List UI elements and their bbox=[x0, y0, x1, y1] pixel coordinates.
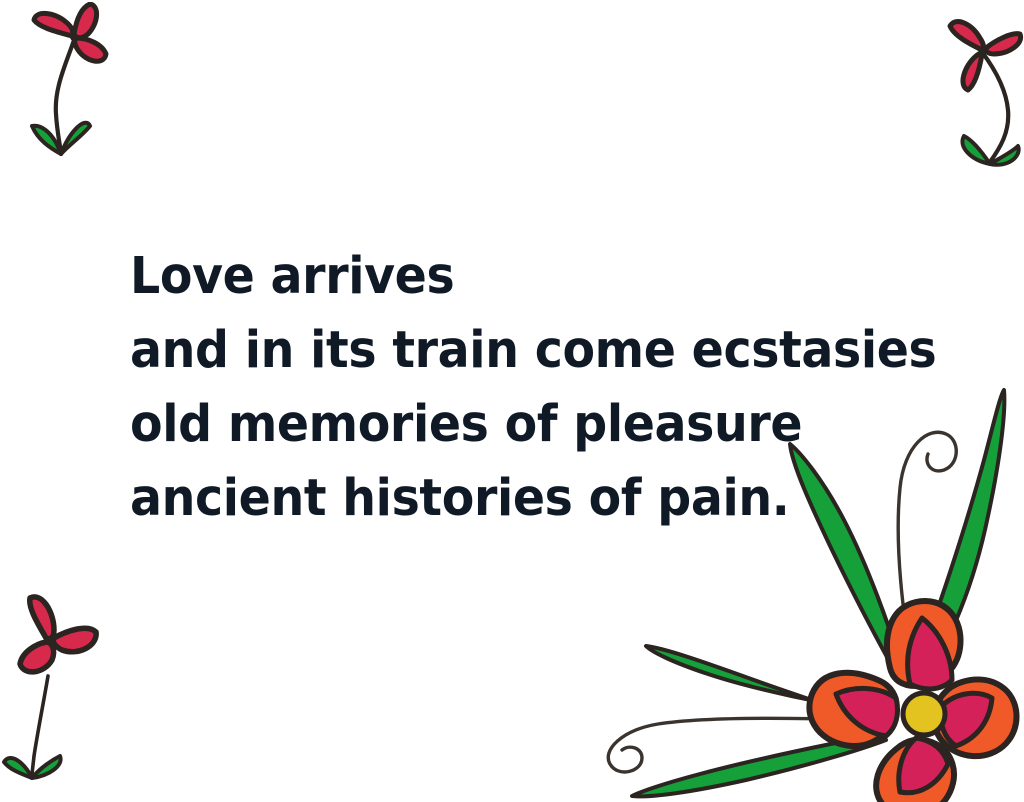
stem-top-right bbox=[982, 52, 1008, 162]
flower-center-top-right bbox=[979, 47, 987, 55]
bouquet-flower bbox=[809, 601, 1016, 802]
poem-line-1: Love arrives bbox=[130, 240, 874, 314]
poem-line-3: old memories of pleasure bbox=[130, 388, 874, 462]
petals-top-left bbox=[34, 4, 106, 61]
petals-top-right bbox=[950, 22, 1021, 90]
tendril-lower bbox=[608, 718, 860, 772]
leaf-pair-top-right bbox=[962, 136, 1018, 165]
petals-bottom-left bbox=[20, 597, 96, 672]
leaf-lower-lower bbox=[632, 734, 886, 796]
leaf-pair-bottom-left bbox=[4, 756, 61, 778]
flower-top-right bbox=[938, 6, 1024, 196]
flower-bottom-left bbox=[2, 580, 122, 795]
flower-center-bouquet bbox=[903, 693, 945, 735]
flower-center-top-left bbox=[70, 33, 78, 41]
stem-top-left bbox=[56, 40, 74, 154]
poem-text-block: Love arrives and in its train come ecsta… bbox=[130, 240, 930, 536]
poem-line-2: and in its train come ecstasies bbox=[130, 314, 874, 388]
flower-center-bottom-left bbox=[45, 636, 53, 644]
stem-bottom-left bbox=[32, 676, 48, 776]
inner-petals bbox=[836, 618, 992, 793]
outer-petals bbox=[809, 601, 1016, 802]
flower-top-left bbox=[14, 2, 144, 182]
leaf-pair-top-left bbox=[32, 123, 90, 154]
poem-line-4: ancient histories of pain. bbox=[130, 462, 874, 536]
leaf-lower-upper bbox=[646, 646, 884, 724]
poem-card: Love arrives and in its train come ecsta… bbox=[0, 0, 1024, 802]
